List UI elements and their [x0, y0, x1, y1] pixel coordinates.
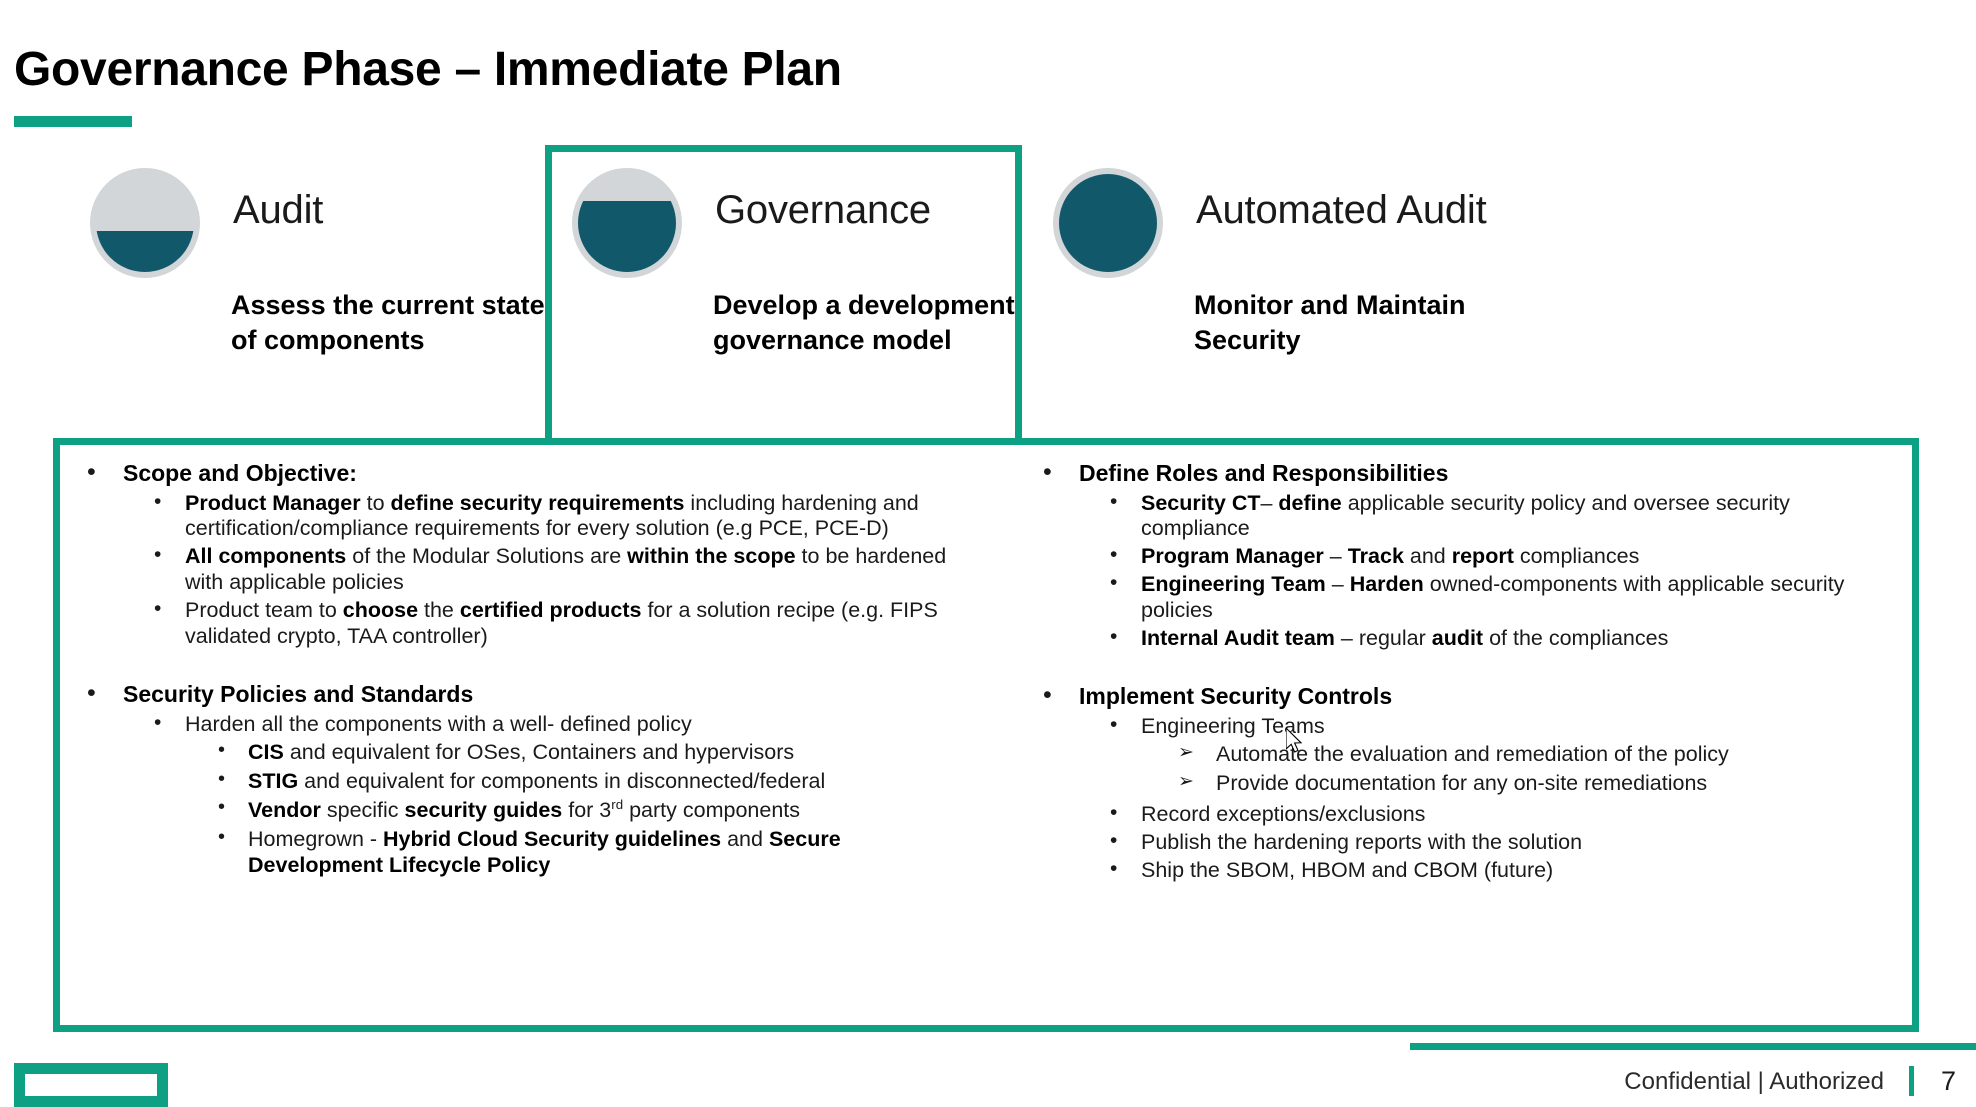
progress-circle-icon [90, 168, 200, 278]
bullet-item: STIG and equivalent for components in di… [70, 769, 976, 798]
phase-row: Audit Assess the current state of compon… [0, 150, 1976, 440]
page-title: Governance Phase – Immediate Plan [14, 42, 842, 97]
bullet-item: All components of the Modular Solutions … [70, 544, 976, 598]
bullet-heading: Security Policies and Standards [70, 681, 976, 709]
progress-circle-icon [572, 168, 682, 278]
phase-title-governance: Governance [715, 188, 931, 233]
phase-subtitle-automated-audit: Monitor and Maintain Security [1194, 288, 1524, 357]
phase-title-audit: Audit [233, 188, 323, 233]
phase-card-governance[interactable]: Governance Develop a development governa… [572, 150, 1042, 440]
slide-canvas: Governance Phase – Immediate Plan Audit … [0, 0, 1976, 1107]
bullet-item: Security CT– define applicable security … [1026, 491, 1902, 545]
bullet-group: Security Policies and Standards [70, 681, 976, 709]
gauge-fill [96, 231, 194, 272]
bullet-item: Harden all the components with a well- d… [70, 712, 976, 740]
phase-card-audit[interactable]: Audit Assess the current state of compon… [90, 150, 560, 440]
phase-title-automated-audit: Automated Audit [1196, 188, 1487, 233]
bullet-item: Product Manager to define security requi… [70, 491, 976, 545]
bullet-sublist: Product Manager to define security requi… [70, 491, 976, 652]
bullet-sublist: Security CT– define applicable security … [1026, 491, 1902, 654]
bullet-item: Automate the evaluation and remediation … [1026, 742, 1902, 771]
bullet-item: Engineering Teams [1026, 714, 1902, 742]
footer-classification: Confidential | Authorized [1624, 1068, 1884, 1096]
hpe-logo [14, 1063, 168, 1107]
bullet-sublist: Automate the evaluation and remediation … [1026, 742, 1902, 800]
bullet-heading: Implement Security Controls [1026, 683, 1902, 711]
group-spacer [1026, 653, 1902, 683]
bullet-sublist: CIS and equivalent for OSes, Containers … [70, 740, 976, 882]
bullet-sublist: Harden all the components with a well- d… [70, 712, 976, 740]
details-panel: Scope and Objective:Product Manager to d… [53, 438, 1919, 1032]
bullet-item: Publish the hardening reports with the s… [1026, 830, 1902, 858]
bullet-item: Engineering Team – Harden owned-componen… [1026, 572, 1902, 626]
bullet-item: Provide documentation for any on-site re… [1026, 771, 1902, 800]
bullet-item: Program Manager – Track and report compl… [1026, 544, 1902, 572]
bullet-item: Record exceptions/exclusions [1026, 802, 1902, 830]
page-number: 7 [1941, 1066, 1956, 1097]
bullet-sublist: Engineering Teams [1026, 714, 1902, 742]
footer-separator [1909, 1066, 1914, 1096]
phase-header: Automated Audit [1053, 150, 1523, 270]
group-spacer [70, 651, 976, 681]
bullet-group: Scope and Objective: [70, 460, 976, 488]
progress-circle-icon [1053, 168, 1163, 278]
bullet-item: Product team to choose the certified pro… [70, 598, 976, 652]
bullet-item: Vendor specific security guides for 3rd … [70, 797, 976, 827]
gauge-fill [578, 201, 676, 272]
bullet-item: Ship the SBOM, HBOM and CBOM (future) [1026, 858, 1902, 886]
bullet-item: Homegrown - Hybrid Cloud Security guidel… [70, 827, 976, 882]
phase-card-automated-audit[interactable]: Automated Audit Monitor and Maintain Sec… [1053, 150, 1523, 440]
bullet-sublist: Record exceptions/exclusionsPublish the … [1026, 802, 1902, 885]
footer-accent-rule [1410, 1043, 1976, 1050]
bullet-group: Implement Security Controls [1026, 683, 1902, 711]
bullet-group: Define Roles and Responsibilities [1026, 460, 1902, 488]
phase-header: Governance [572, 150, 1042, 270]
details-column-left: Scope and Objective:Product Manager to d… [60, 445, 986, 1025]
phase-subtitle-audit: Assess the current state of components [231, 288, 561, 357]
bullet-heading: Scope and Objective: [70, 460, 976, 488]
gauge-fill [1059, 174, 1157, 272]
title-accent-rule [14, 116, 132, 127]
phase-header: Audit [90, 150, 560, 270]
phase-subtitle-governance: Develop a development governance model [713, 288, 1043, 357]
details-column-right: Define Roles and ResponsibilitiesSecurit… [986, 445, 1912, 1025]
bullet-heading: Define Roles and Responsibilities [1026, 460, 1902, 488]
bullet-item: CIS and equivalent for OSes, Containers … [70, 740, 976, 769]
bullet-item: Internal Audit team – regular audit of t… [1026, 626, 1902, 654]
